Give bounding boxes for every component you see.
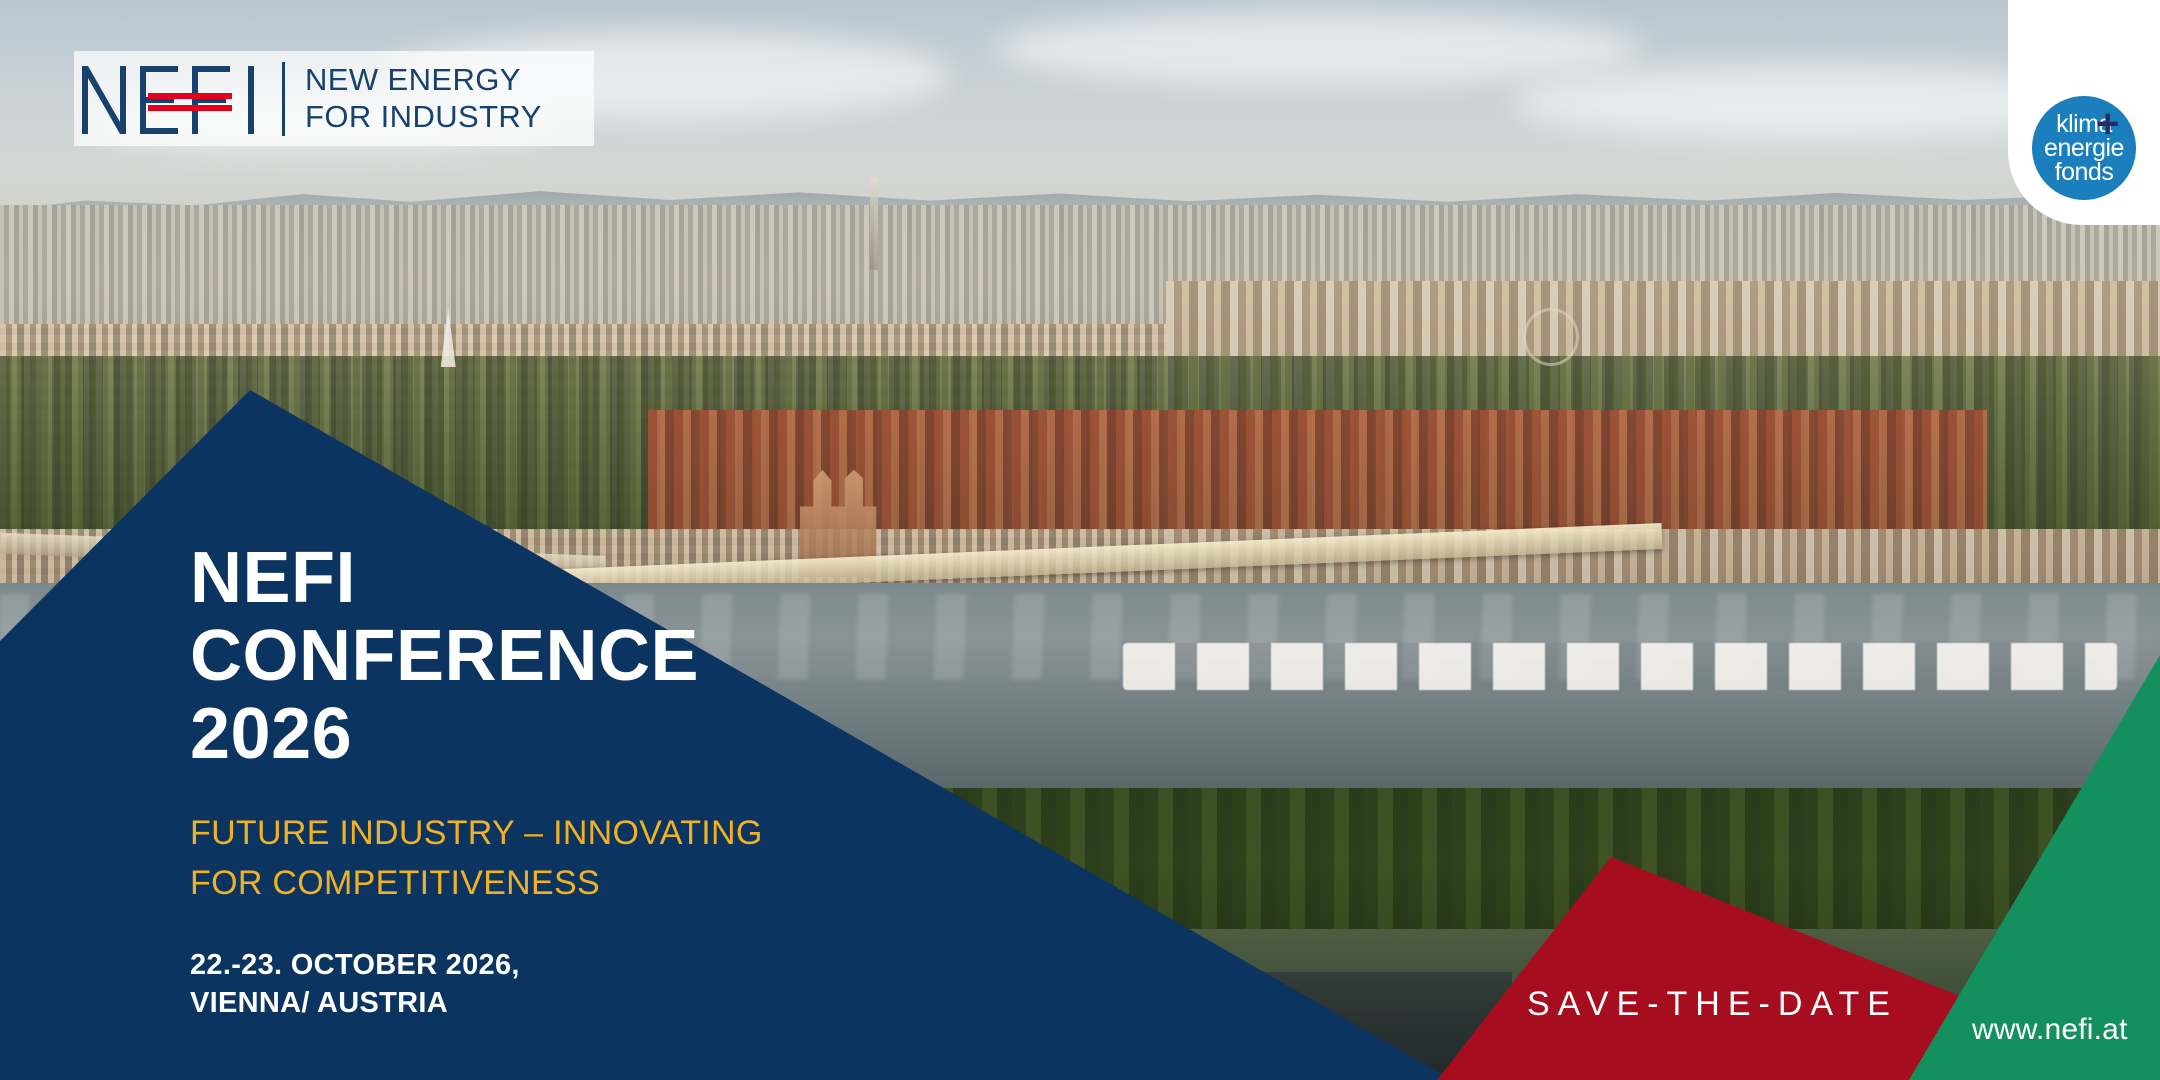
klima-circle-icon: klima energie fonds	[2032, 96, 2136, 200]
klima-plus-icon: +	[2096, 104, 2119, 144]
save-the-date-label: SAVE-THE-DATE	[1527, 985, 1898, 1024]
title-line-3: 2026	[190, 696, 1090, 774]
nefi-wordmark-icon	[80, 62, 276, 136]
klima-energie-fonds-logo[interactable]: klima energie fonds +	[2008, 0, 2160, 225]
nefi-logo[interactable]: NEW ENERGY FOR INDUSTRY	[74, 51, 594, 146]
klima-line-1: klima	[2032, 112, 2136, 136]
logo-divider	[282, 62, 285, 136]
event-date: 22.-23. OCTOBER 2026,	[190, 946, 1090, 984]
red-badge-shape	[1437, 857, 1970, 1080]
event-location: VIENNA/ AUSTRIA	[190, 984, 1090, 1022]
save-the-date-banner: NEW ENERGY FOR INDUSTRY klima energie fo…	[0, 0, 2160, 1080]
event-subtitle: FUTURE INDUSTRY – INNOVATING FOR COMPETI…	[190, 809, 1090, 908]
event-date-location: 22.-23. OCTOBER 2026, VIENNA/ AUSTRIA	[190, 946, 1090, 1023]
klima-line-3: fonds	[2032, 160, 2136, 184]
klima-logo-text: klima energie fonds	[2032, 96, 2136, 200]
subtitle-line-1: FUTURE INDUSTRY – INNOVATING	[190, 809, 1090, 858]
title-line-1: NEFI	[190, 540, 1090, 618]
page-title: NEFI CONFERENCE 2026	[190, 540, 1090, 773]
nefi-tagline-line1: NEW ENERGY	[305, 62, 542, 99]
subtitle-line-2: FOR COMPETITIVENESS	[190, 859, 1090, 908]
title-line-2: CONFERENCE	[190, 618, 1090, 696]
nefi-tagline-line2: FOR INDUSTRY	[305, 99, 542, 136]
website-url[interactable]: www.nefi.at	[1972, 1013, 2128, 1047]
headline-block: NEFI CONFERENCE 2026 FUTURE INDUSTRY – I…	[190, 540, 1090, 1022]
klima-line-2: energie	[2032, 136, 2136, 160]
nefi-tagline: NEW ENERGY FOR INDUSTRY	[305, 62, 542, 135]
